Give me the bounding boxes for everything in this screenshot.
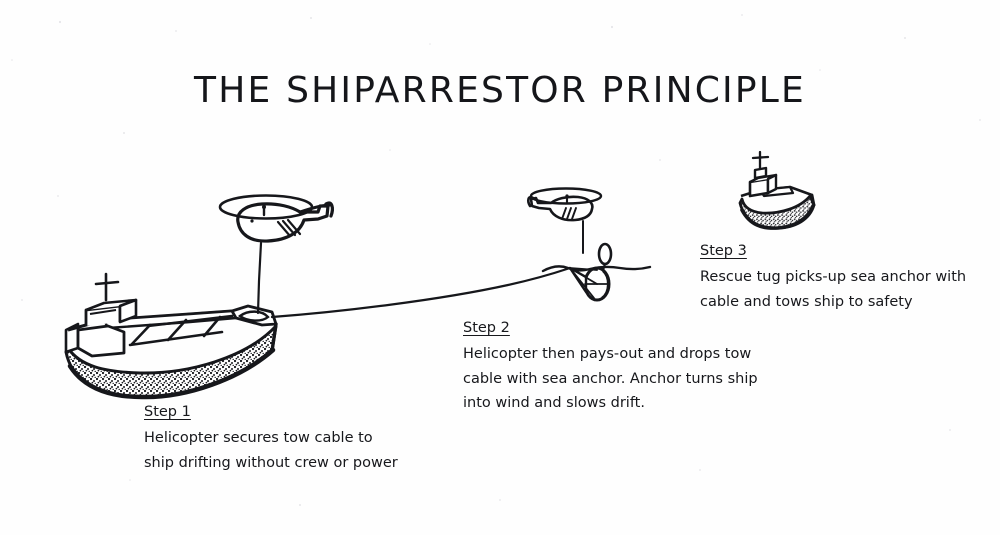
step-1-body: Helicopter secures tow cable to ship dri… [144,426,398,475]
cargo-ship-illustration [66,274,276,397]
step-3-label: Step 3 [700,243,747,259]
tow-helicopter-illustration [220,196,332,242]
step-2-label: Step 2 [463,320,510,336]
rescue-tug-illustration [740,152,814,228]
sea-anchor-illustration [570,244,611,300]
step-1-label: Step 1 [144,404,191,420]
diagram-page: THE SHIPARRESTOR PRINCIPLE [0,0,1000,535]
sea-anchor-buoy [599,244,611,264]
tow-cable-to-ship [258,243,261,313]
tow-cable-to-sea-anchor [272,268,570,317]
step-3-body: Rescue tug picks-up sea anchor with cabl… [700,265,966,314]
drop-helicopter-illustration [528,189,601,221]
step-2-body: Helicopter then pays-out and drops tow c… [463,342,758,416]
